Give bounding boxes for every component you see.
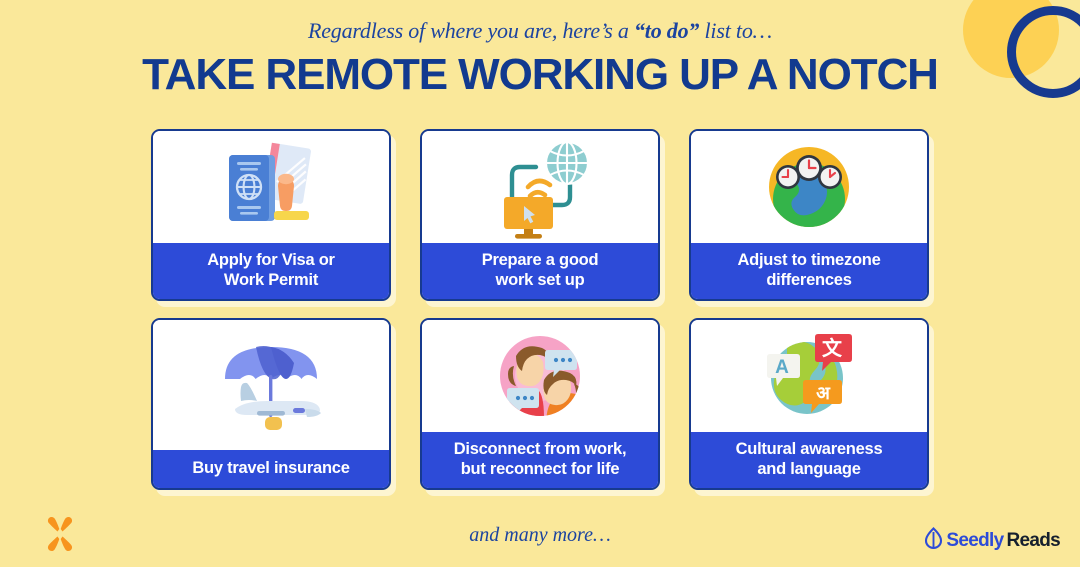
subtitle-suffix: list to…	[699, 18, 772, 43]
card-art: A 文 अ	[691, 320, 927, 432]
subtitle-emphasis: “to do”	[634, 18, 699, 43]
brand-logo: Seedly Reads	[924, 527, 1060, 555]
card-label: Apply for Visa or Work Permit	[153, 243, 389, 299]
clocks-globe-icon	[759, 137, 859, 237]
checklist-card-cultural-awareness[interactable]: A 文 अ Cultural awareness and language	[689, 318, 929, 490]
checklist-card-travel-insurance[interactable]: Buy travel insurance	[151, 318, 391, 490]
card-art	[422, 320, 658, 432]
card-label-line1: Prepare a good	[426, 251, 654, 270]
checklist-card-timezone[interactable]: Adjust to timezone differences	[689, 129, 929, 301]
card-label-line2: Work Permit	[157, 271, 385, 290]
monitor-wifi-globe-icon	[482, 135, 598, 239]
card-label: Prepare a good work set up	[422, 243, 658, 299]
card-label: Adjust to timezone differences	[691, 243, 927, 299]
card-label-line1: Adjust to timezone	[695, 251, 923, 270]
brand-name-second: Reads	[1006, 530, 1060, 552]
page-title: TAKE REMOTE WORKING UP A NOTCH	[0, 50, 1080, 100]
svg-text:अ: अ	[816, 383, 831, 403]
card-art	[691, 131, 927, 243]
subtitle-prefix: Regardless of where you are, here’s a	[308, 18, 634, 43]
two-people-talking-icon	[490, 326, 590, 426]
card-label-line2: differences	[695, 271, 923, 290]
subtitle: Regardless of where you are, here’s a “t…	[0, 18, 1080, 44]
brand-name-first: Seedly	[946, 530, 1003, 552]
checklist-card-disconnect[interactable]: Disconnect from work, but reconnect for …	[420, 318, 660, 490]
globe-language-bubbles-icon: A 文 अ	[757, 326, 861, 426]
umbrella-airplane-icon	[213, 335, 329, 435]
svg-text:A: A	[775, 357, 789, 378]
card-label-line1: Buy travel insurance	[159, 459, 383, 478]
header: Regardless of where you are, here’s a “t…	[0, 0, 1080, 100]
card-label-line2: but reconnect for life	[426, 460, 654, 479]
card-label-line1: Apply for Visa or	[157, 251, 385, 270]
checklist-card-work-setup[interactable]: Prepare a good work set up	[420, 129, 660, 301]
card-art	[153, 320, 389, 450]
card-art	[422, 131, 658, 243]
svg-text:文: 文	[822, 336, 843, 360]
checklist-grid: Apply for Visa or Work Permit	[151, 129, 930, 490]
card-label-line2: and language	[695, 460, 923, 479]
card-label-line2: work set up	[426, 271, 654, 290]
card-label-line1: Disconnect from work,	[426, 440, 654, 459]
checklist-card-visa[interactable]: Apply for Visa or Work Permit	[151, 129, 391, 301]
footer-note: and many more…	[0, 524, 1080, 547]
seedly-leaf-icon	[924, 527, 943, 555]
card-label-line1: Cultural awareness	[695, 440, 923, 459]
card-label: Disconnect from work, but reconnect for …	[422, 432, 658, 488]
card-label: Buy travel insurance	[153, 450, 389, 488]
card-label: Cultural awareness and language	[691, 432, 927, 488]
card-art	[153, 131, 389, 243]
passport-ticket-stamp-icon	[212, 135, 330, 239]
